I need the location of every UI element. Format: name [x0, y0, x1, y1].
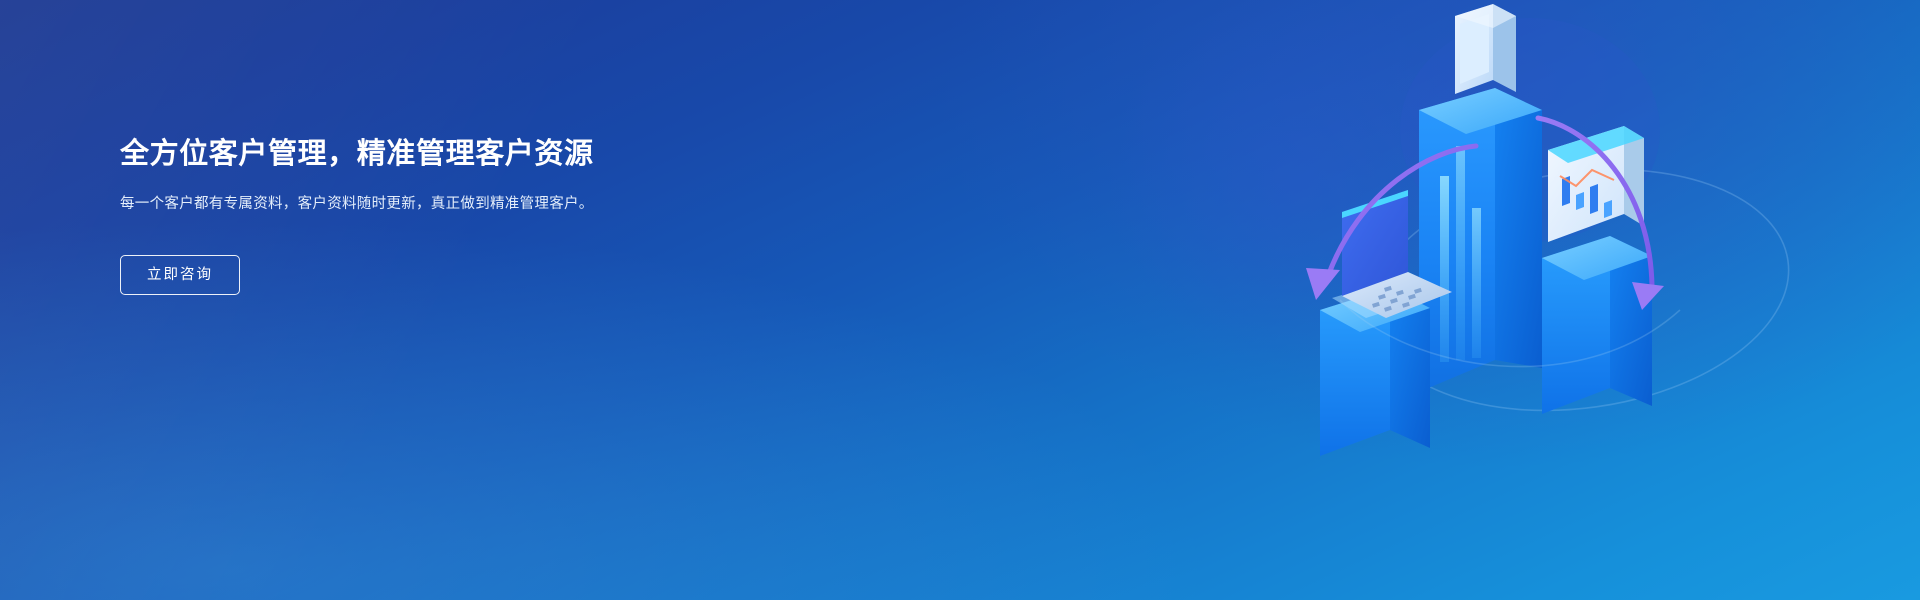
monitor-bar-chart — [1560, 170, 1614, 218]
hero-copy-block: 全方位客户管理，精准管理客户资源 每一个客户都有专属资料，客户资料随时更新，真正… — [120, 136, 740, 295]
device-chart-monitor — [1548, 126, 1644, 242]
orbit-front-arc — [1340, 300, 1680, 367]
arrow-right-curve — [1538, 118, 1664, 310]
device-laptop — [1342, 190, 1452, 318]
keyboard-keys — [1372, 286, 1422, 312]
hero-banner: 全方位客户管理，精准管理客户资源 每一个客户都有专属资料，客户资料随时更新，真正… — [0, 0, 1920, 600]
hero-subtitle: 每一个客户都有专属资料，客户资料随时更新，真正做到精准管理客户。 — [120, 192, 602, 217]
background-halo — [1400, 18, 1660, 242]
orbit-ring — [1356, 144, 1805, 436]
illustration-svg — [1280, 0, 1920, 600]
pillar-center — [1419, 88, 1542, 392]
page-title: 全方位客户管理，精准管理客户资源 — [120, 136, 740, 172]
device-tablet — [1447, 0, 1516, 94]
hero-illustration — [1280, 0, 1920, 600]
consult-now-button[interactable]: 立即咨询 — [120, 255, 240, 295]
pillar-right — [1542, 236, 1652, 414]
background-sheen — [0, 0, 1920, 600]
pillar-left — [1320, 280, 1430, 456]
arrow-left-curve — [1306, 146, 1476, 300]
